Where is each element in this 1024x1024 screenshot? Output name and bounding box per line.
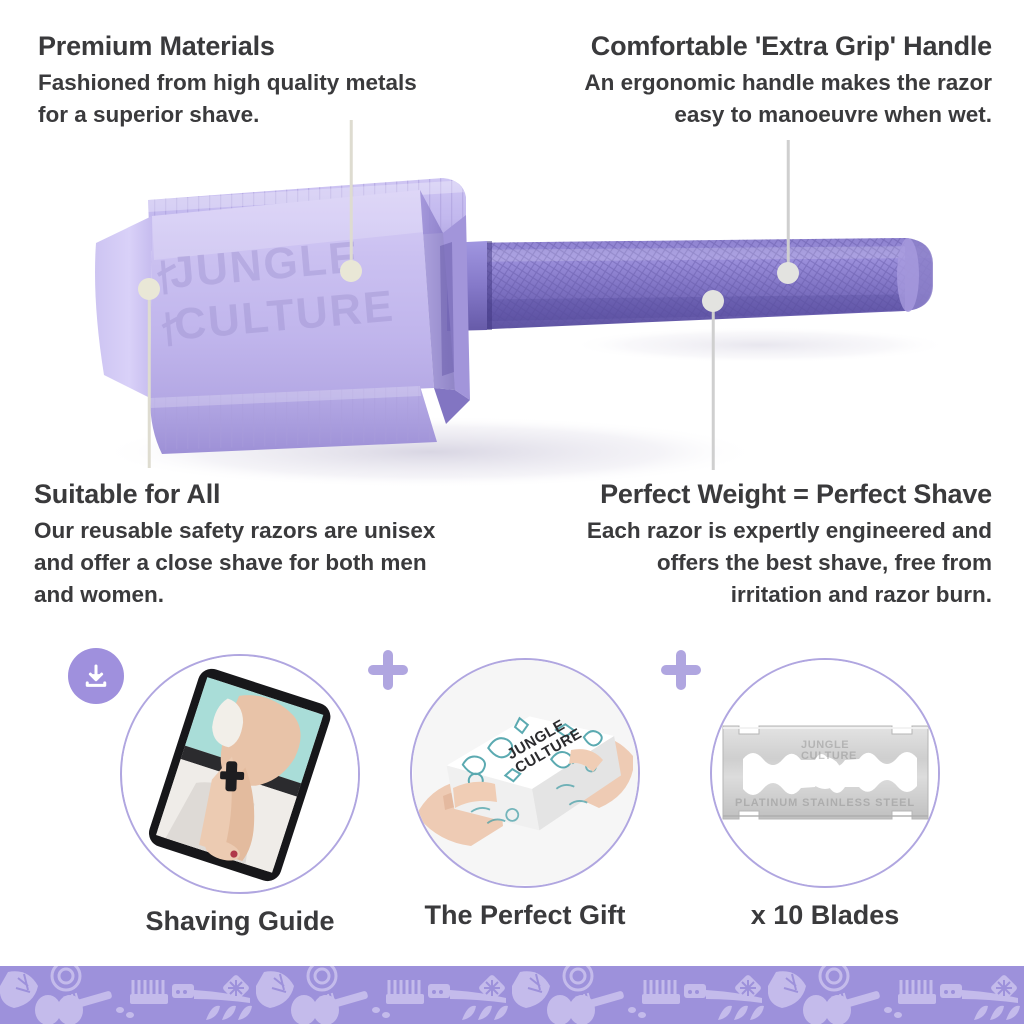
feature-suitable-for-all: Suitable for All Our reusable safety raz… (34, 478, 504, 611)
feature-title: Perfect Weight = Perfect Shave (520, 478, 992, 512)
feature-body-line: and women. (34, 579, 504, 611)
feature-perfect-weight: Perfect Weight = Perfect Shave Each razo… (520, 478, 992, 611)
feature-title: Comfortable 'Extra Grip' Handle (520, 30, 992, 64)
blade-material-text: PLATINUM STAINLESS STEEL (734, 797, 914, 809)
infographic-root: JUNGLE CULTURE Premium Materi (0, 0, 1024, 1024)
bundle-items-row: Shaving Guide (0, 636, 1024, 936)
feature-body-line: An ergonomic handle makes the razor (520, 67, 992, 99)
bundle-item-label: The Perfect Gift (410, 900, 640, 931)
feature-title: Suitable for All (34, 478, 504, 512)
feature-body-line: for a superior shave. (38, 99, 508, 131)
feature-body: Each razor is expertly engineered and of… (520, 515, 992, 611)
razor-engraving-line1: JUNGLE (168, 232, 362, 297)
leader-line-suitable-for-all (138, 278, 160, 470)
leader-line-extra-grip-handle (777, 140, 799, 290)
band-pattern (0, 966, 1024, 1024)
feature-body-line: Each razor is expertly engineered and (520, 515, 992, 547)
feature-title: Premium Materials (38, 30, 508, 64)
bundle-item-ten-blades: JUNGLE CULTURE PLATINUM STAINLESS STEEL … (710, 658, 940, 931)
feature-body-line: easy to manoeuvre when wet. (520, 99, 992, 131)
bottom-pattern-band (0, 966, 1024, 1024)
leader-stem (148, 290, 151, 468)
bundle-item-perfect-gift: JUNGLE CULTURE The Perfect Gift (410, 658, 640, 931)
leader-dot (777, 262, 799, 284)
leader-stem (712, 302, 715, 470)
perfect-gift-image: JUNGLE CULTURE (410, 658, 640, 888)
shaving-guide-image (120, 654, 360, 894)
leader-stem (350, 120, 353, 268)
bundle-item-shaving-guide: Shaving Guide (120, 654, 360, 937)
feature-body-line: Our reusable safety razors are unisex (34, 515, 504, 547)
leader-dot (702, 290, 724, 312)
feature-body-line: and offer a close shave for both men (34, 547, 504, 579)
feature-body: Our reusable safety razors are unisex an… (34, 515, 504, 611)
feature-premium-materials: Premium Materials Fashioned from high qu… (38, 30, 508, 131)
feature-body-line: Fashioned from high quality metals (38, 67, 508, 99)
feature-extra-grip-handle: Comfortable 'Extra Grip' Handle An ergon… (520, 30, 992, 131)
bundle-item-label: x 10 Blades (710, 900, 940, 931)
blade-logo-line2: CULTURE (801, 750, 857, 762)
plus-icon (655, 644, 707, 696)
bundle-item-label: Shaving Guide (120, 906, 360, 937)
leader-dot (138, 278, 160, 300)
razor-engraving-line2: CULTURE (172, 282, 396, 350)
leader-stem (787, 140, 790, 270)
download-icon (68, 648, 124, 704)
razor-blade-image: JUNGLE CULTURE PLATINUM STAINLESS STEEL (710, 658, 940, 888)
leader-dot (340, 260, 362, 282)
feature-body-line: irritation and razor burn. (520, 579, 992, 611)
feature-body-line: offers the best shave, free from (520, 547, 992, 579)
feature-body: An ergonomic handle makes the razor easy… (520, 67, 992, 131)
leader-line-premium-materials (340, 120, 362, 280)
leader-line-perfect-weight (702, 290, 724, 470)
plus-icon (362, 644, 414, 696)
feature-body: Fashioned from high quality metals for a… (38, 67, 508, 131)
